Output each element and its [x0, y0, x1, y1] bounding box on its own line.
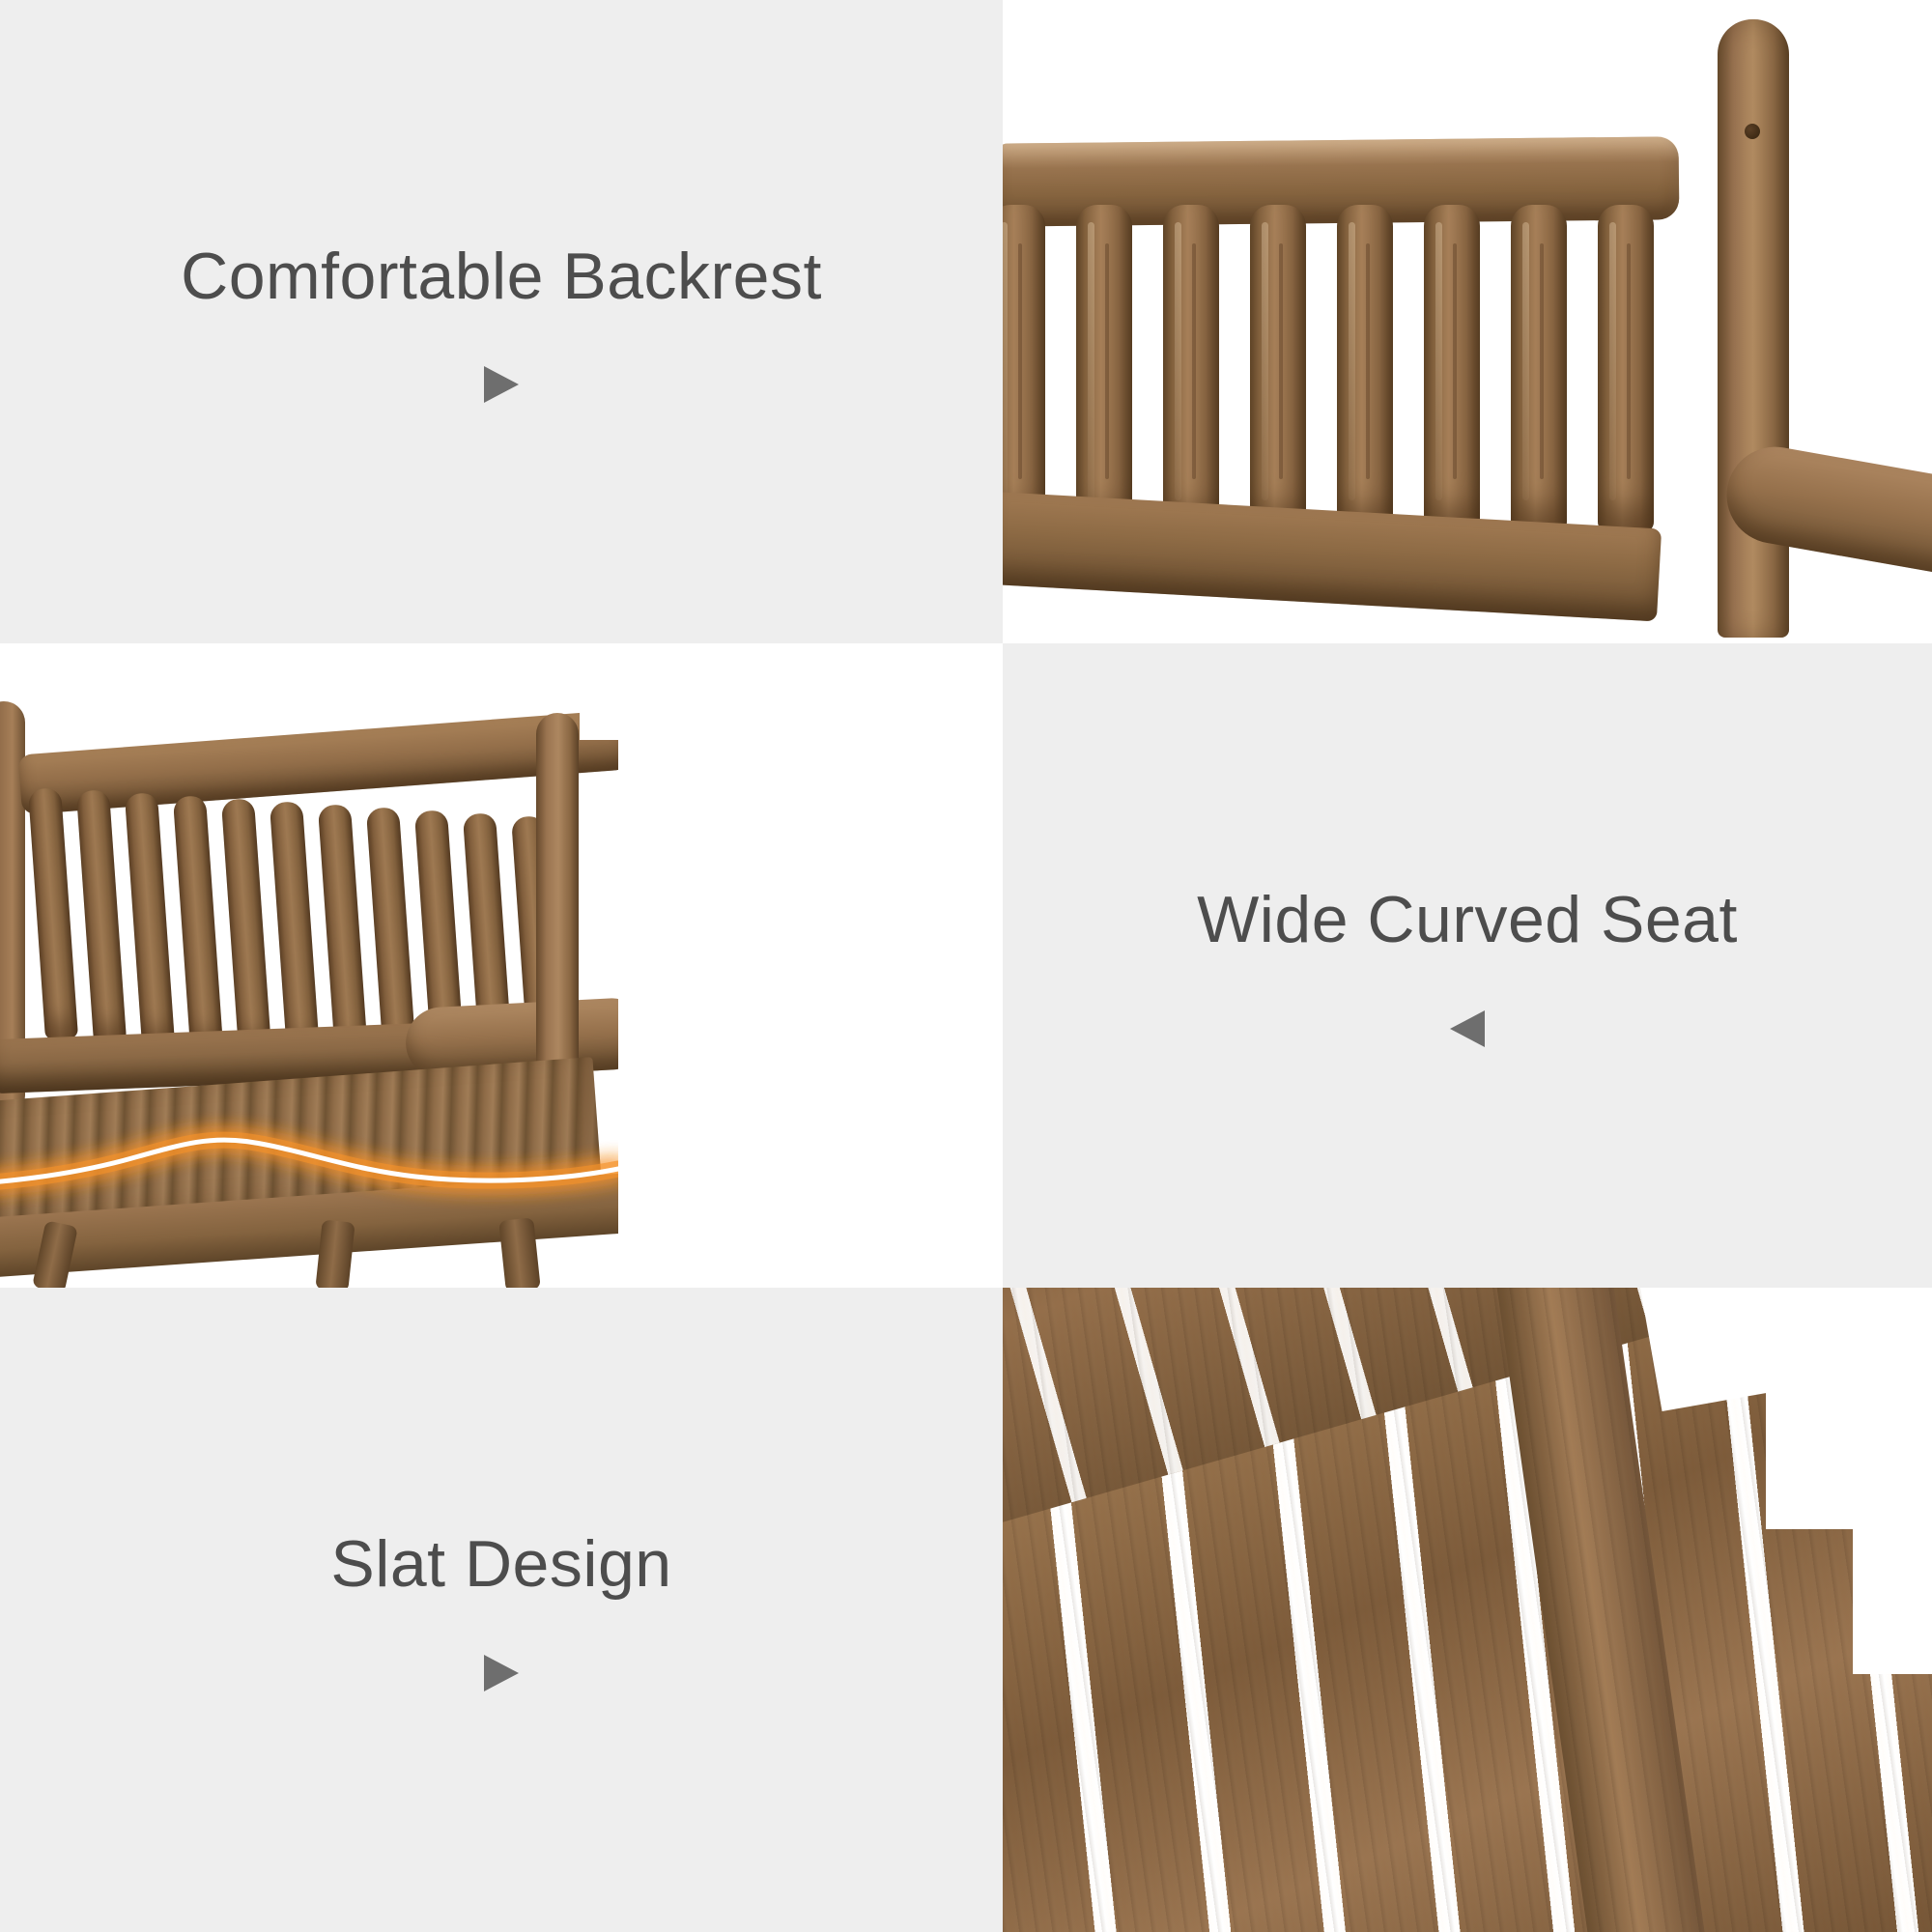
panel-slat-photo: [1003, 1288, 1932, 1932]
backrest-slat: [1598, 205, 1654, 533]
backrest-slat: [1250, 205, 1306, 533]
bench-leg: [315, 1219, 355, 1288]
panel-slat-design: Slat Design: [0, 1288, 1003, 1932]
panel-bench-photo: [0, 643, 1003, 1288]
bench-backrest-slat: [125, 792, 175, 1047]
bench-backrest-slat: [318, 804, 368, 1059]
slat-seat-image: [1003, 1288, 1932, 1932]
bench-full-image: [0, 643, 1003, 1288]
backrest-slat: [1337, 205, 1393, 533]
image-background-mask: [1003, 0, 1932, 19]
panel-backrest-photo: [1003, 0, 1932, 643]
backrest-slat: [1076, 205, 1132, 533]
feature-grid: Comfortable Backrest: [0, 0, 1932, 1932]
triangle-right-icon: [484, 366, 519, 403]
backrest-slat: [1003, 205, 1045, 533]
backrest-slat: [1511, 205, 1567, 533]
triangle-left-icon: [1450, 1010, 1485, 1047]
bench-backrest-slat: [76, 789, 127, 1044]
caption-wide-curved-seat: Wide Curved Seat: [1197, 884, 1738, 956]
bench-backrest-slat: [173, 795, 223, 1050]
bench-backrest-image: [1003, 0, 1932, 643]
caption-slat-design: Slat Design: [330, 1528, 671, 1601]
panel-wide-curved-seat: Wide Curved Seat: [1003, 643, 1932, 1288]
image-background-mask: [0, 643, 1003, 692]
panel-comfortable-backrest: Comfortable Backrest: [0, 0, 1003, 643]
bench-backrest-slat: [221, 798, 271, 1053]
screw-hole-icon: [1745, 124, 1760, 139]
image-background-mask: [1853, 1481, 1932, 1674]
backrest-slat: [1163, 205, 1219, 533]
caption-comfortable-backrest: Comfortable Backrest: [181, 241, 822, 313]
image-background-mask: [618, 740, 1003, 1288]
bench-leg: [498, 1217, 541, 1288]
triangle-right-icon: [484, 1655, 519, 1691]
backrest-slat: [1424, 205, 1480, 533]
bench-backrest-slat: [270, 801, 320, 1056]
bench-backrest-slat: [28, 787, 78, 1040]
